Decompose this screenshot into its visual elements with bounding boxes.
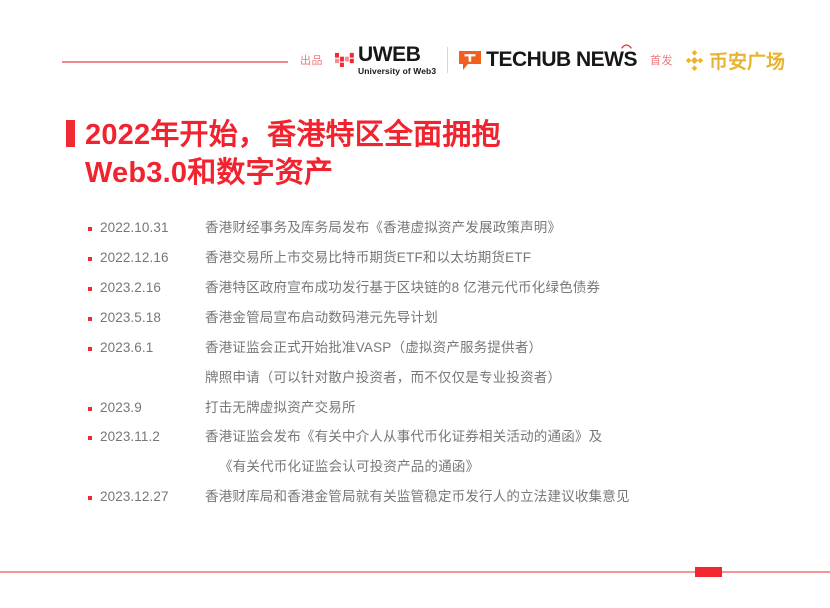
timeline-item-description: 香港交易所上市交易比特币期货ETF和以太坊期货ETF — [205, 248, 531, 269]
bullet-marker-icon — [88, 257, 92, 261]
timeline-list: 2022.10.31香港财经事务及库务局发布《香港虚拟资产发展政策声明》2022… — [88, 218, 788, 517]
techub-speech-bubble-icon — [459, 51, 481, 70]
binance-square-logo[interactable]: 币安广场 — [684, 47, 785, 74]
timeline-item-description: 香港金管局宣布启动数码港元先导计划 — [205, 308, 438, 329]
timeline-item-description-line1: 香港证监会发布《有关中介人从事代币化证券相关活动的通函》及 — [205, 429, 602, 444]
bullet-marker-icon — [88, 227, 92, 231]
produced-by-label: 出品 — [300, 52, 323, 68]
bullet-marker-icon — [88, 496, 92, 500]
timeline-item-description: 香港财库局和香港金管局就有关监管稳定币发行人的立法建议收集意见 — [205, 487, 630, 508]
timeline-item: 2023.5.18香港金管局宣布启动数码港元先导计划 — [88, 308, 788, 329]
timeline-item-description: 香港特区政府宣布成功发行基于区块链的8 亿港元代币化绿色债券 — [205, 278, 600, 299]
timeline-item: 2023.2.16香港特区政府宣布成功发行基于区块链的8 亿港元代币化绿色债券 — [88, 278, 788, 299]
timeline-item-date: 2022.10.31 — [100, 218, 205, 239]
bullet-marker-icon — [88, 436, 92, 440]
first-release-label: 首发 — [650, 52, 673, 68]
timeline-item-description-line1: 香港证监会正式开始批准VASP（虚拟资产服务提供者） — [205, 340, 542, 355]
timeline-item: 2022.12.16香港交易所上市交易比特币期货ETF和以太坊期货ETF — [88, 248, 788, 269]
header-bar: 出品 UWEB University of Web3 — [0, 36, 830, 84]
title-accent-bar — [66, 120, 75, 147]
brand-row: 出品 UWEB University of Web3 — [300, 36, 785, 84]
timeline-item-description: 香港财经事务及库务局发布《香港虚拟资产发展政策声明》 — [205, 218, 561, 239]
timeline-item: 2023.6.1香港证监会正式开始批准VASP（虚拟资产服务提供者）牌照申请（可… — [88, 338, 788, 389]
bullet-marker-icon — [88, 317, 92, 321]
techub-accent-icon — [621, 43, 632, 49]
bullet-marker-icon — [88, 287, 92, 291]
timeline-item: 2023.12.27香港财库局和香港金管局就有关监管稳定币发行人的立法建议收集意… — [88, 487, 788, 508]
techub-name: TECHUB NEWS — [486, 48, 637, 72]
timeline-item-date: 2023.9 — [100, 398, 205, 419]
techub-logo[interactable]: TECHUB NEWS — [459, 48, 637, 72]
timeline-item: 2023.9打击无牌虚拟资产交易所 — [88, 398, 788, 419]
timeline-item-description-line1: 香港金管局宣布启动数码港元先导计划 — [205, 310, 438, 325]
timeline-item-description-line1: 打击无牌虚拟资产交易所 — [205, 400, 356, 415]
timeline-item-date: 2023.12.27 — [100, 487, 205, 508]
timeline-item-description: 打击无牌虚拟资产交易所 — [205, 398, 356, 419]
timeline-item-description-line1: 香港交易所上市交易比特币期货ETF和以太坊期货ETF — [205, 250, 531, 265]
uweb-tagline: University of Web3 — [358, 67, 436, 76]
uweb-name: UWEB — [358, 44, 436, 65]
bullet-marker-icon — [88, 407, 92, 411]
page-title: 2022年开始，香港特区全面拥抱 Web3.0和数字资产 — [66, 116, 501, 193]
timeline-item-description-line1: 香港特区政府宣布成功发行基于区块链的8 亿港元代币化绿色债券 — [205, 280, 600, 295]
binance-name: 币安广场 — [709, 47, 785, 74]
timeline-item-description: 香港证监会正式开始批准VASP（虚拟资产服务提供者）牌照申请（可以针对散户投资者… — [205, 338, 561, 389]
footer-accent-block — [695, 567, 722, 577]
timeline-item: 2022.10.31香港财经事务及库务局发布《香港虚拟资产发展政策声明》 — [88, 218, 788, 239]
uweb-pixel-mark-icon — [335, 51, 354, 70]
timeline-item-date: 2022.12.16 — [100, 248, 205, 269]
timeline-item-date: 2023.6.1 — [100, 338, 205, 359]
binance-diamond-icon — [684, 50, 705, 71]
bullet-marker-icon — [88, 347, 92, 351]
timeline-item-description-line1: 香港财经事务及库务局发布《香港虚拟资产发展政策声明》 — [205, 220, 561, 235]
timeline-item: 2023.11.2香港证监会发布《有关中介人从事代币化证券相关活动的通函》及《有… — [88, 427, 788, 478]
uweb-logo[interactable]: UWEB University of Web3 — [335, 44, 436, 76]
timeline-item-description: 香港证监会发布《有关中介人从事代币化证券相关活动的通函》及《有关代币化证监会认可… — [205, 427, 602, 478]
timeline-item-date: 2023.11.2 — [100, 427, 205, 448]
brand-divider — [447, 47, 448, 73]
timeline-item-date: 2023.2.16 — [100, 278, 205, 299]
title-text: 2022年开始，香港特区全面拥抱 Web3.0和数字资产 — [85, 116, 501, 193]
timeline-item-date: 2023.5.18 — [100, 308, 205, 329]
header-rule-line — [62, 61, 288, 63]
timeline-item-description-line2: 牌照申请（可以针对散户投资者，而不仅仅是专业投资者） — [205, 368, 561, 389]
timeline-item-description-line2: 《有关代币化证监会认可投资产品的通函》 — [219, 457, 602, 478]
timeline-item-description-line1: 香港财库局和香港金管局就有关监管稳定币发行人的立法建议收集意见 — [205, 489, 630, 504]
